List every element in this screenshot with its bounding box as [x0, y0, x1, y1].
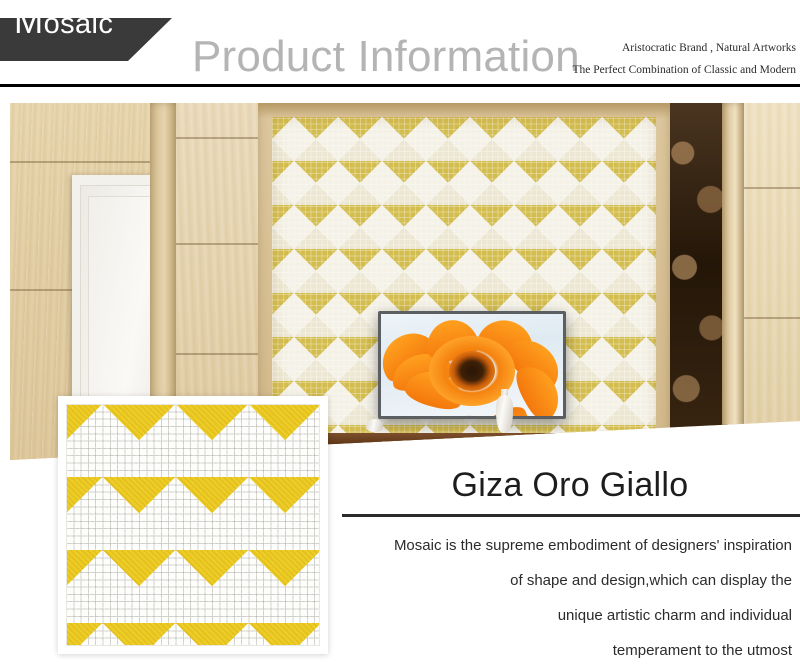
- mosaic-swatch-pattern: [66, 404, 320, 646]
- small-bowl: [366, 419, 383, 432]
- product-name: Giza Oro Giallo: [340, 465, 800, 505]
- right-marble-wall: [744, 103, 800, 460]
- header-divider: [0, 84, 800, 87]
- product-description: Mosaic is the supreme embodiment of desi…: [340, 528, 792, 668]
- console-niche: [476, 445, 584, 460]
- mosaic-swatch-texture: [66, 404, 320, 646]
- description-line: temperament to the utmost: [340, 633, 792, 668]
- page-header: Mosaic Product Information Aristocratic …: [0, 0, 800, 86]
- flower-petal: [437, 415, 494, 416]
- console-door-right[interactable]: [592, 445, 656, 460]
- description-line: Mosaic is the supreme embodiment of desi…: [340, 528, 792, 563]
- product-name-divider: [342, 514, 800, 517]
- brand-name: Mosaic: [14, 6, 113, 40]
- tile-seam: [744, 317, 800, 319]
- tall-vase: [496, 395, 513, 433]
- page-title: Product Information: [192, 32, 580, 82]
- tile-seam: [176, 137, 260, 139]
- product-info-block: Giza Oro Giallo Mosaic is the supreme em…: [340, 460, 800, 670]
- tagline-primary: Aristocratic Brand , Natural Artworks: [572, 37, 796, 59]
- patterned-curtain: [670, 103, 728, 460]
- brand-initial: M: [14, 2, 44, 41]
- mosaic-swatch-image: [58, 396, 328, 654]
- flower-disc-center: [449, 351, 495, 391]
- brand-name-rest: osaic: [44, 8, 114, 40]
- tagline-secondary: The Perfect Combination of Classic and M…: [572, 59, 796, 81]
- tagline-group: Aristocratic Brand , Natural Artworks Th…: [572, 37, 796, 81]
- tv-screen: [381, 314, 563, 416]
- tile-seam: [176, 353, 260, 355]
- description-line: unique artistic charm and individual: [340, 598, 792, 633]
- ceiling-shadow: [258, 103, 670, 119]
- carved-column-right: [722, 103, 744, 460]
- tile-seam: [744, 187, 800, 189]
- description-line: of shape and design,which can display th…: [340, 563, 792, 598]
- wall-mounted-tv: [378, 311, 566, 419]
- tile-seam: [176, 243, 260, 245]
- console-niche: [358, 445, 466, 460]
